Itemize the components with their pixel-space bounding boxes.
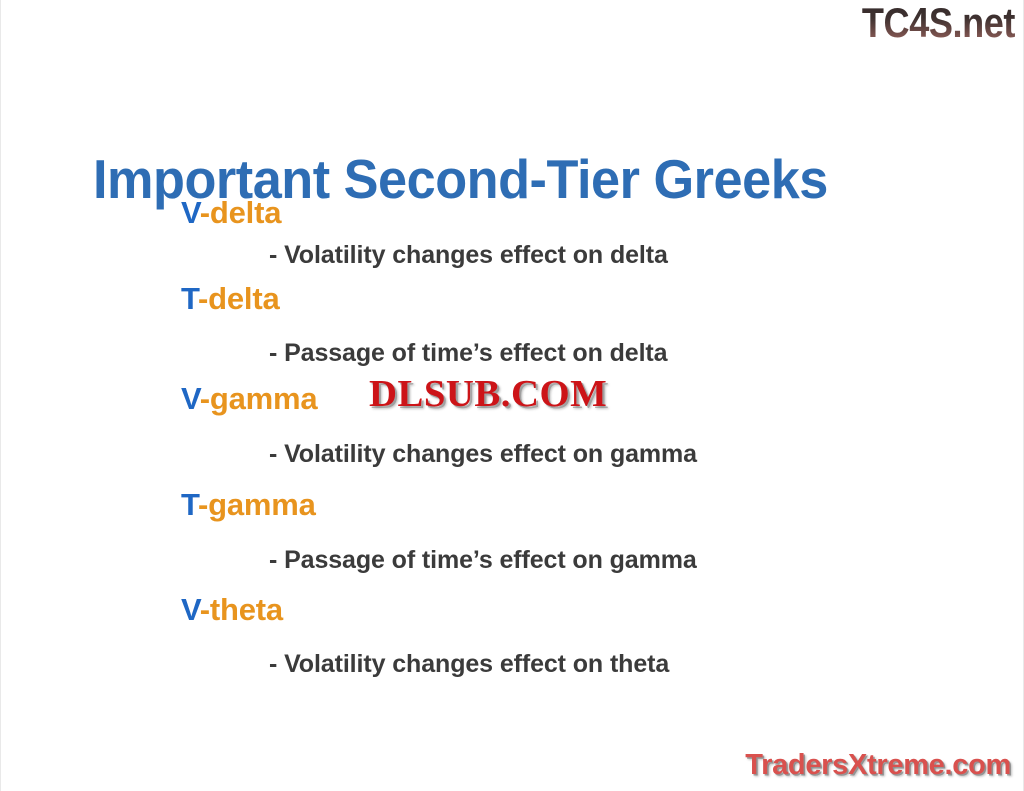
greek-suffix: -delta [198,281,279,316]
tc4s-logo: TC4S.net [862,2,1015,44]
greek-prefix: V [181,381,200,416]
greek-heading: V-theta [1,593,1024,627]
greek-suffix: -gamma [200,381,318,416]
greek-heading: T-gamma [1,488,1024,522]
greek-prefix: T [181,487,198,522]
dlsub-watermark: DLSUB.COM [369,374,607,414]
list-item: V-theta - Volatility changes effect on t… [1,593,1024,678]
greek-heading: V-delta [1,196,1024,230]
greek-suffix: -delta [200,195,281,230]
greek-prefix: V [181,592,200,627]
greek-prefix: T [181,281,198,316]
greek-heading: T-delta [1,282,1024,316]
greek-prefix: V [181,195,200,230]
greek-suffix: -theta [200,592,283,627]
list-item: V-delta - Volatility changes effect on d… [1,196,1024,269]
greek-description: - Volatility changes effect on delta [1,241,1024,269]
tradersxtreme-logo: TradersXtreme.com [745,749,1011,781]
greek-description: - Passage of time’s effect on delta [1,339,1024,367]
greek-description: - Passage of time’s effect on gamma [1,546,1024,574]
greek-suffix: -gamma [198,487,316,522]
presentation-slide: TC4S.net Important Second-Tier Greeks V-… [0,0,1024,791]
greek-description: - Volatility changes effect on theta [1,650,1024,678]
list-item: T-gamma - Passage of time’s effect on ga… [1,488,1024,574]
greek-description: - Volatility changes effect on gamma [1,440,1024,468]
list-item: T-delta - Passage of time’s effect on de… [1,282,1024,367]
greeks-list: V-delta - Volatility changes effect on d… [1,196,1024,678]
